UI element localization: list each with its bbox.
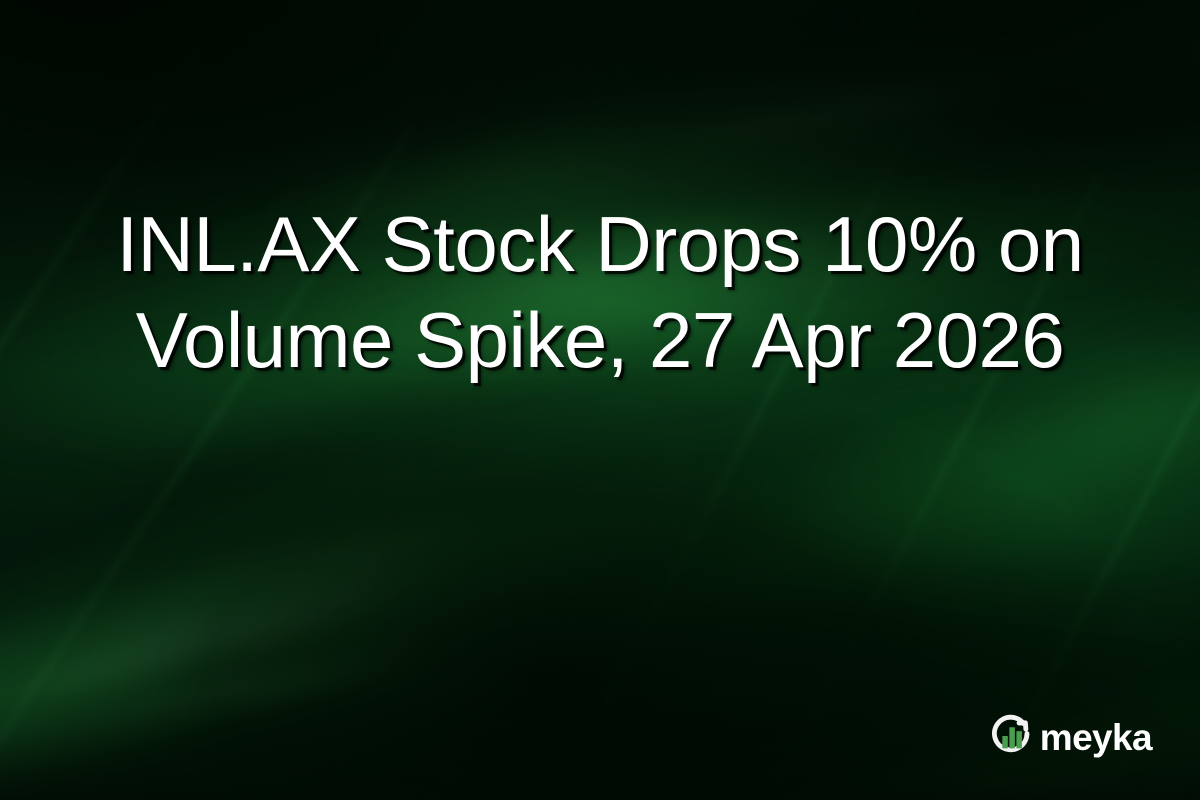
background-streaks <box>0 0 1200 800</box>
meyka-wordmark: meyka <box>1040 719 1152 756</box>
share-card: INL.AX Stock Drops 10% on Volume Spike, … <box>0 0 1200 800</box>
light-streak-lower-left-third <box>0 502 854 800</box>
light-streak-bottom-right <box>423 605 1200 800</box>
headline-line-2: Volume Spike, 27 Apr 2026 <box>40 292 1160 388</box>
background-dark-lobes <box>0 0 1200 800</box>
light-streak-lower-left-thin <box>0 381 872 800</box>
background-radial-gradient <box>0 0 1200 800</box>
background-shading <box>0 0 1200 800</box>
logo-bar-left <box>1002 736 1008 748</box>
headline: INL.AX Stock Drops 10% on Volume Spike, … <box>0 196 1200 388</box>
logo-bar-right <box>1016 731 1022 748</box>
headline-line-1: INL.AX Stock Drops 10% on <box>40 196 1160 292</box>
meyka-logo[interactable]: meyka <box>990 714 1152 758</box>
hatch-lines-upper-left <box>0 0 516 800</box>
logo-bar-middle <box>1009 727 1015 748</box>
hatch-lines-right <box>520 43 1200 800</box>
background-topleft-vignette <box>0 0 1200 800</box>
background-base-gradient <box>0 0 1200 800</box>
meyka-bar-chart-ring-icon <box>990 714 1034 758</box>
